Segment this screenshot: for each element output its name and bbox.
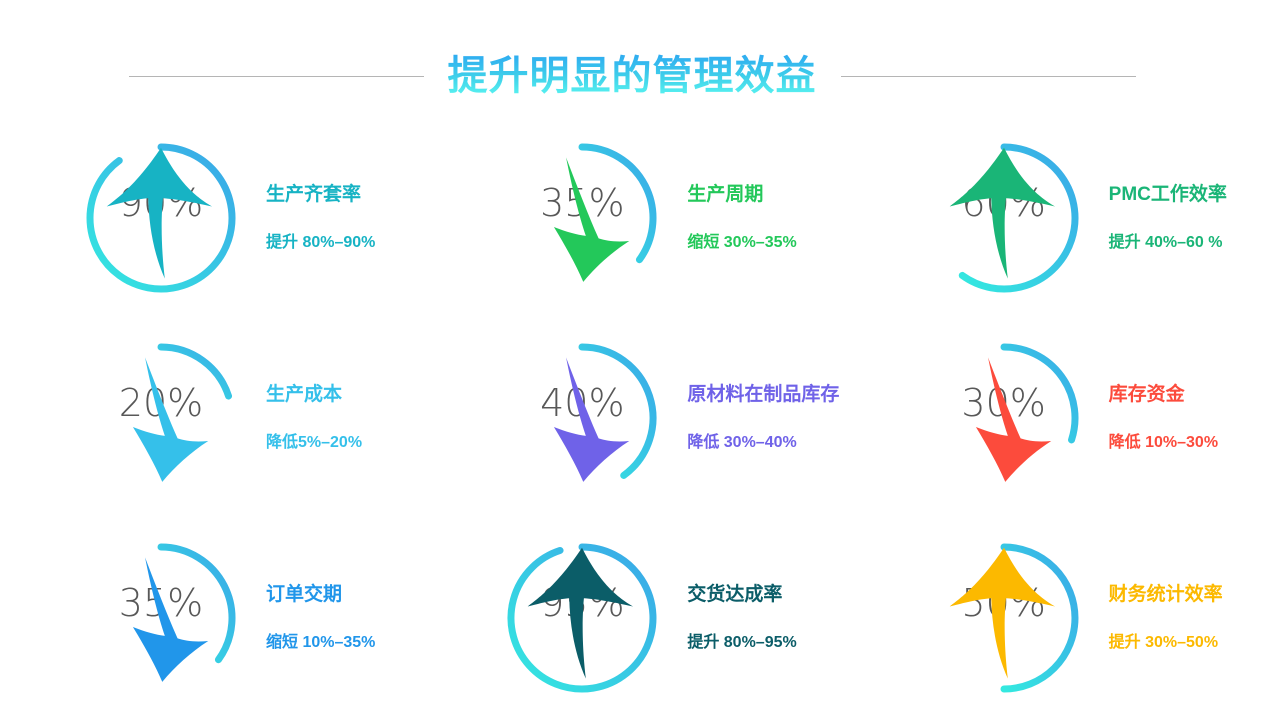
gauge-labels: PMC工作效率提升 40%–60 % (1109, 183, 1227, 253)
arrow-up-icon (78, 135, 244, 301)
gauge-center: 40% (499, 335, 665, 501)
gauge-donut: 50% (921, 535, 1087, 701)
gauge-metric-subtitle: 缩短 10%–35% (266, 633, 375, 653)
gauge-donut: 90% (78, 135, 244, 301)
header: 提升明显的管理效益 (0, 48, 1264, 104)
gauge-cell: 20%生产成本降低5%–20% (0, 318, 421, 518)
gauge-labels: 交货达成率提升 80%–95% (687, 583, 796, 653)
gauge-metric-subtitle: 降低5%–20% (266, 433, 362, 453)
gauge-donut: 30% (921, 335, 1087, 501)
gauge-metric-subtitle: 提升 80%–95% (687, 633, 796, 653)
gauge-donut: 35% (499, 135, 665, 301)
gauge-metric-title: PMC工作效率 (1109, 183, 1227, 207)
gauge-labels: 原材料在制品库存降低 30%–40% (687, 383, 839, 453)
gauge-metric-subtitle: 提升 80%–90% (266, 233, 375, 253)
gauge-labels: 生产成本降低5%–20% (266, 383, 362, 453)
gauge-cell: 95%交货达成率提升 80%–95% (421, 518, 842, 718)
gauge-metric-title: 原材料在制品库存 (687, 383, 839, 407)
gauge-cell: 90%生产齐套率提升 80%–90% (0, 118, 421, 318)
gauge-center: 20% (78, 335, 244, 501)
gauge-metric-title: 生产齐套率 (266, 183, 375, 207)
arrow-down-icon (78, 535, 244, 701)
gauge-labels: 库存资金降低 10%–30% (1109, 383, 1218, 453)
gauge-metric-title: 生产成本 (266, 383, 362, 407)
gauge-metric-subtitle: 提升 40%–60 % (1109, 233, 1227, 253)
gauge-donut: 40% (499, 335, 665, 501)
gauge-labels: 生产周期缩短 30%–35% (687, 183, 796, 253)
gauge-cell: 60%PMC工作效率提升 40%–60 % (843, 118, 1264, 318)
slide-root: 提升明显的管理效益 90%生产齐套率提升 80%–90%35%生产周期缩短 30… (0, 0, 1264, 710)
gauge-center: 95% (499, 535, 665, 701)
gauge-cell: 40%原材料在制品库存降低 30%–40% (421, 318, 842, 518)
gauge-metric-subtitle: 降低 30%–40% (687, 433, 839, 453)
gauge-center: 35% (78, 535, 244, 701)
arrow-down-icon (499, 335, 665, 501)
divider-line-left (129, 76, 424, 77)
gauge-metric-title: 财务统计效率 (1109, 583, 1223, 607)
page-title: 提升明显的管理效益 (448, 50, 817, 102)
gauge-donut: 20% (78, 335, 244, 501)
gauge-metric-title: 库存资金 (1109, 383, 1218, 407)
gauge-metric-subtitle: 降低 10%–30% (1109, 433, 1218, 453)
arrow-down-icon (78, 335, 244, 501)
arrow-down-icon (499, 135, 665, 301)
gauge-donut: 35% (78, 535, 244, 701)
gauge-center: 50% (921, 535, 1087, 701)
gauge-metric-subtitle: 提升 30%–50% (1109, 633, 1223, 653)
gauge-metric-subtitle: 缩短 30%–35% (687, 233, 796, 253)
gauge-grid: 90%生产齐套率提升 80%–90%35%生产周期缩短 30%–35%60%PM… (0, 118, 1264, 708)
gauge-cell: 50%财务统计效率提升 30%–50% (843, 518, 1264, 718)
gauge-metric-title: 交货达成率 (687, 583, 796, 607)
gauge-metric-title: 生产周期 (687, 183, 796, 207)
gauge-cell: 35%订单交期缩短 10%–35% (0, 518, 421, 718)
arrow-up-icon (499, 535, 665, 701)
gauge-cell: 30%库存资金降低 10%–30% (843, 318, 1264, 518)
gauge-labels: 生产齐套率提升 80%–90% (266, 183, 375, 253)
gauge-labels: 财务统计效率提升 30%–50% (1109, 583, 1223, 653)
gauge-cell: 35%生产周期缩短 30%–35% (421, 118, 842, 318)
gauge-donut: 60% (921, 135, 1087, 301)
gauge-center: 90% (78, 135, 244, 301)
gauge-labels: 订单交期缩短 10%–35% (266, 583, 375, 653)
arrow-up-icon (921, 535, 1087, 701)
arrow-up-icon (921, 135, 1087, 301)
gauge-metric-title: 订单交期 (266, 583, 375, 607)
gauge-center: 60% (921, 135, 1087, 301)
gauge-center: 35% (499, 135, 665, 301)
divider-line-right (841, 76, 1136, 77)
gauge-center: 30% (921, 335, 1087, 501)
gauge-donut: 95% (499, 535, 665, 701)
arrow-down-icon (921, 335, 1087, 501)
